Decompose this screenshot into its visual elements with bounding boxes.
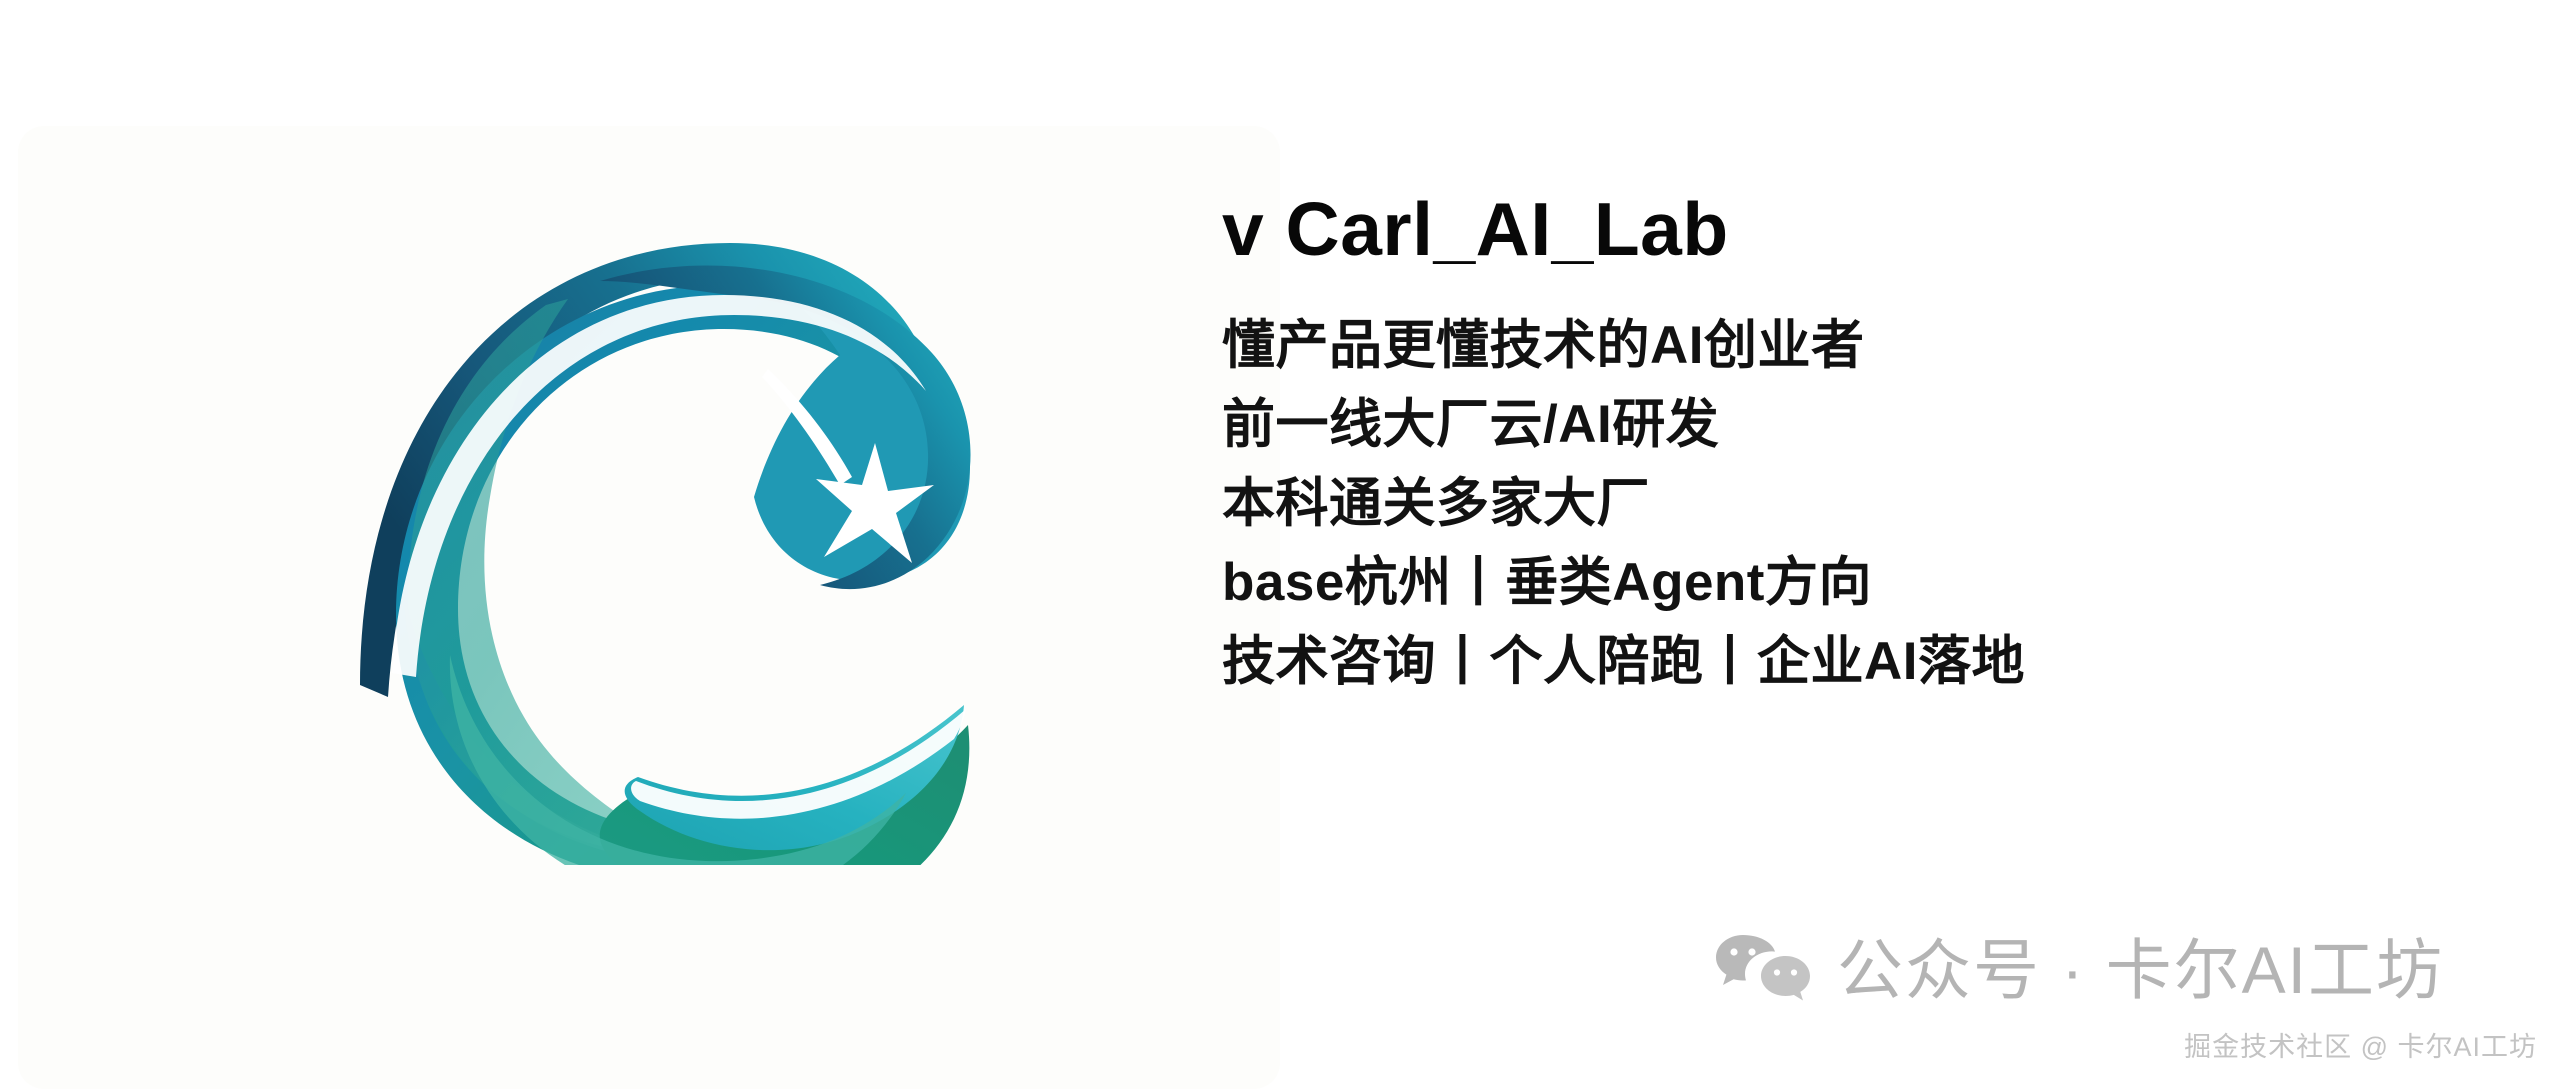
watermark: 公众号 · 卡尔AI工坊 掘金技术社区 @ 卡尔AI工坊 (1715, 933, 2545, 1064)
profile-bio-line: 前一线大厂云/AI研发 (1222, 398, 2522, 451)
carl-ai-lab-logo-icon (300, 185, 980, 865)
profile-card-screen: v Carl_AI_Lab 懂产品更懂技术的AI创业者 前一线大厂云/AI研发 … (0, 0, 2560, 1089)
profile-bio-list: 懂产品更懂技术的AI创业者 前一线大厂云/AI研发 本科通关多家大厂 base杭… (1222, 319, 2522, 688)
profile-bio-line: 本科通关多家大厂 (1222, 477, 2522, 530)
profile-bio-line: base杭州丨垂类Agent方向 (1222, 556, 2522, 609)
profile-bio-line: 技术咨询丨个人陪跑丨企业AI落地 (1222, 635, 2522, 688)
profile-bio-line: 懂产品更懂技术的AI创业者 (1222, 319, 2522, 372)
watermark-subtext: 掘金技术社区 @ 卡尔AI工坊 (1715, 1025, 2545, 1064)
profile-title: v Carl_AI_Lab (1222, 190, 2522, 269)
wechat-icon (1715, 933, 1811, 1007)
profile-info: v Carl_AI_Lab 懂产品更懂技术的AI创业者 前一线大厂云/AI研发 … (1222, 190, 2522, 688)
watermark-main-row: 公众号 · 卡尔AI工坊 (1715, 933, 2545, 1007)
watermark-text: 公众号 · 卡尔AI工坊 (1837, 937, 2444, 1003)
